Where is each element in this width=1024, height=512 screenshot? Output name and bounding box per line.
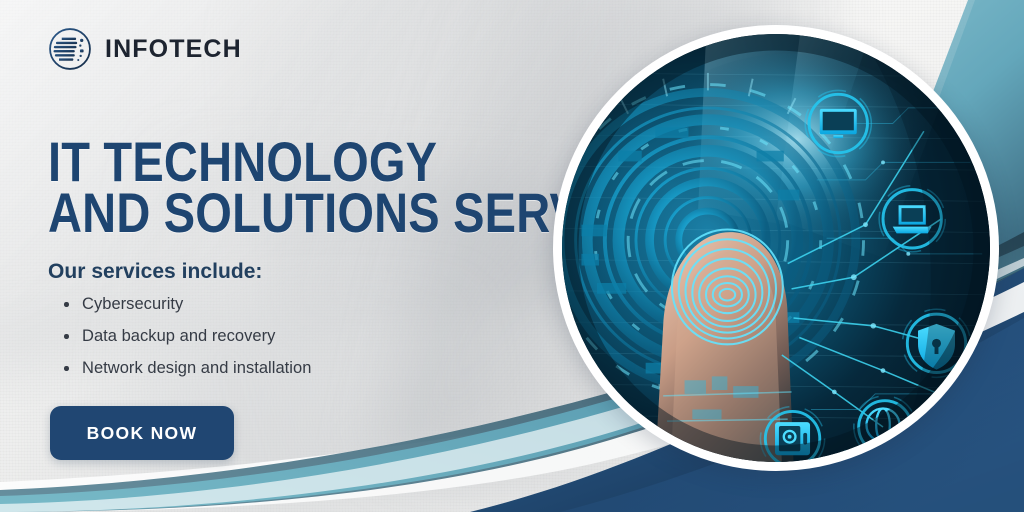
hero-image bbox=[562, 34, 990, 462]
services-list: Cybersecurity Data backup and recovery N… bbox=[60, 294, 311, 390]
hero-image-circle bbox=[553, 25, 999, 471]
globe-tech-icon bbox=[48, 27, 92, 71]
content-column: INFOTECH IT TECHNOLOGY AND SOLUTIONS SER… bbox=[0, 0, 560, 512]
services-heading: Our services include: bbox=[48, 260, 262, 284]
list-item: Network design and installation bbox=[60, 358, 311, 378]
headline-line-2: AND SOLUTIONS SERVICE bbox=[48, 187, 468, 239]
headline-line-1: IT TECHNOLOGY bbox=[48, 136, 468, 188]
list-item: Cybersecurity bbox=[60, 294, 311, 314]
book-now-button[interactable]: BOOK NOW bbox=[50, 406, 234, 460]
list-item: Data backup and recovery bbox=[60, 326, 311, 346]
brand-logo[interactable]: INFOTECH bbox=[48, 27, 242, 71]
promotional-banner: INFOTECH IT TECHNOLOGY AND SOLUTIONS SER… bbox=[0, 0, 1024, 512]
page-title: IT TECHNOLOGY AND SOLUTIONS SERVICE bbox=[48, 136, 468, 239]
fingerprint-scanner-illustration bbox=[562, 34, 990, 462]
brand-name: INFOTECH bbox=[105, 37, 242, 62]
